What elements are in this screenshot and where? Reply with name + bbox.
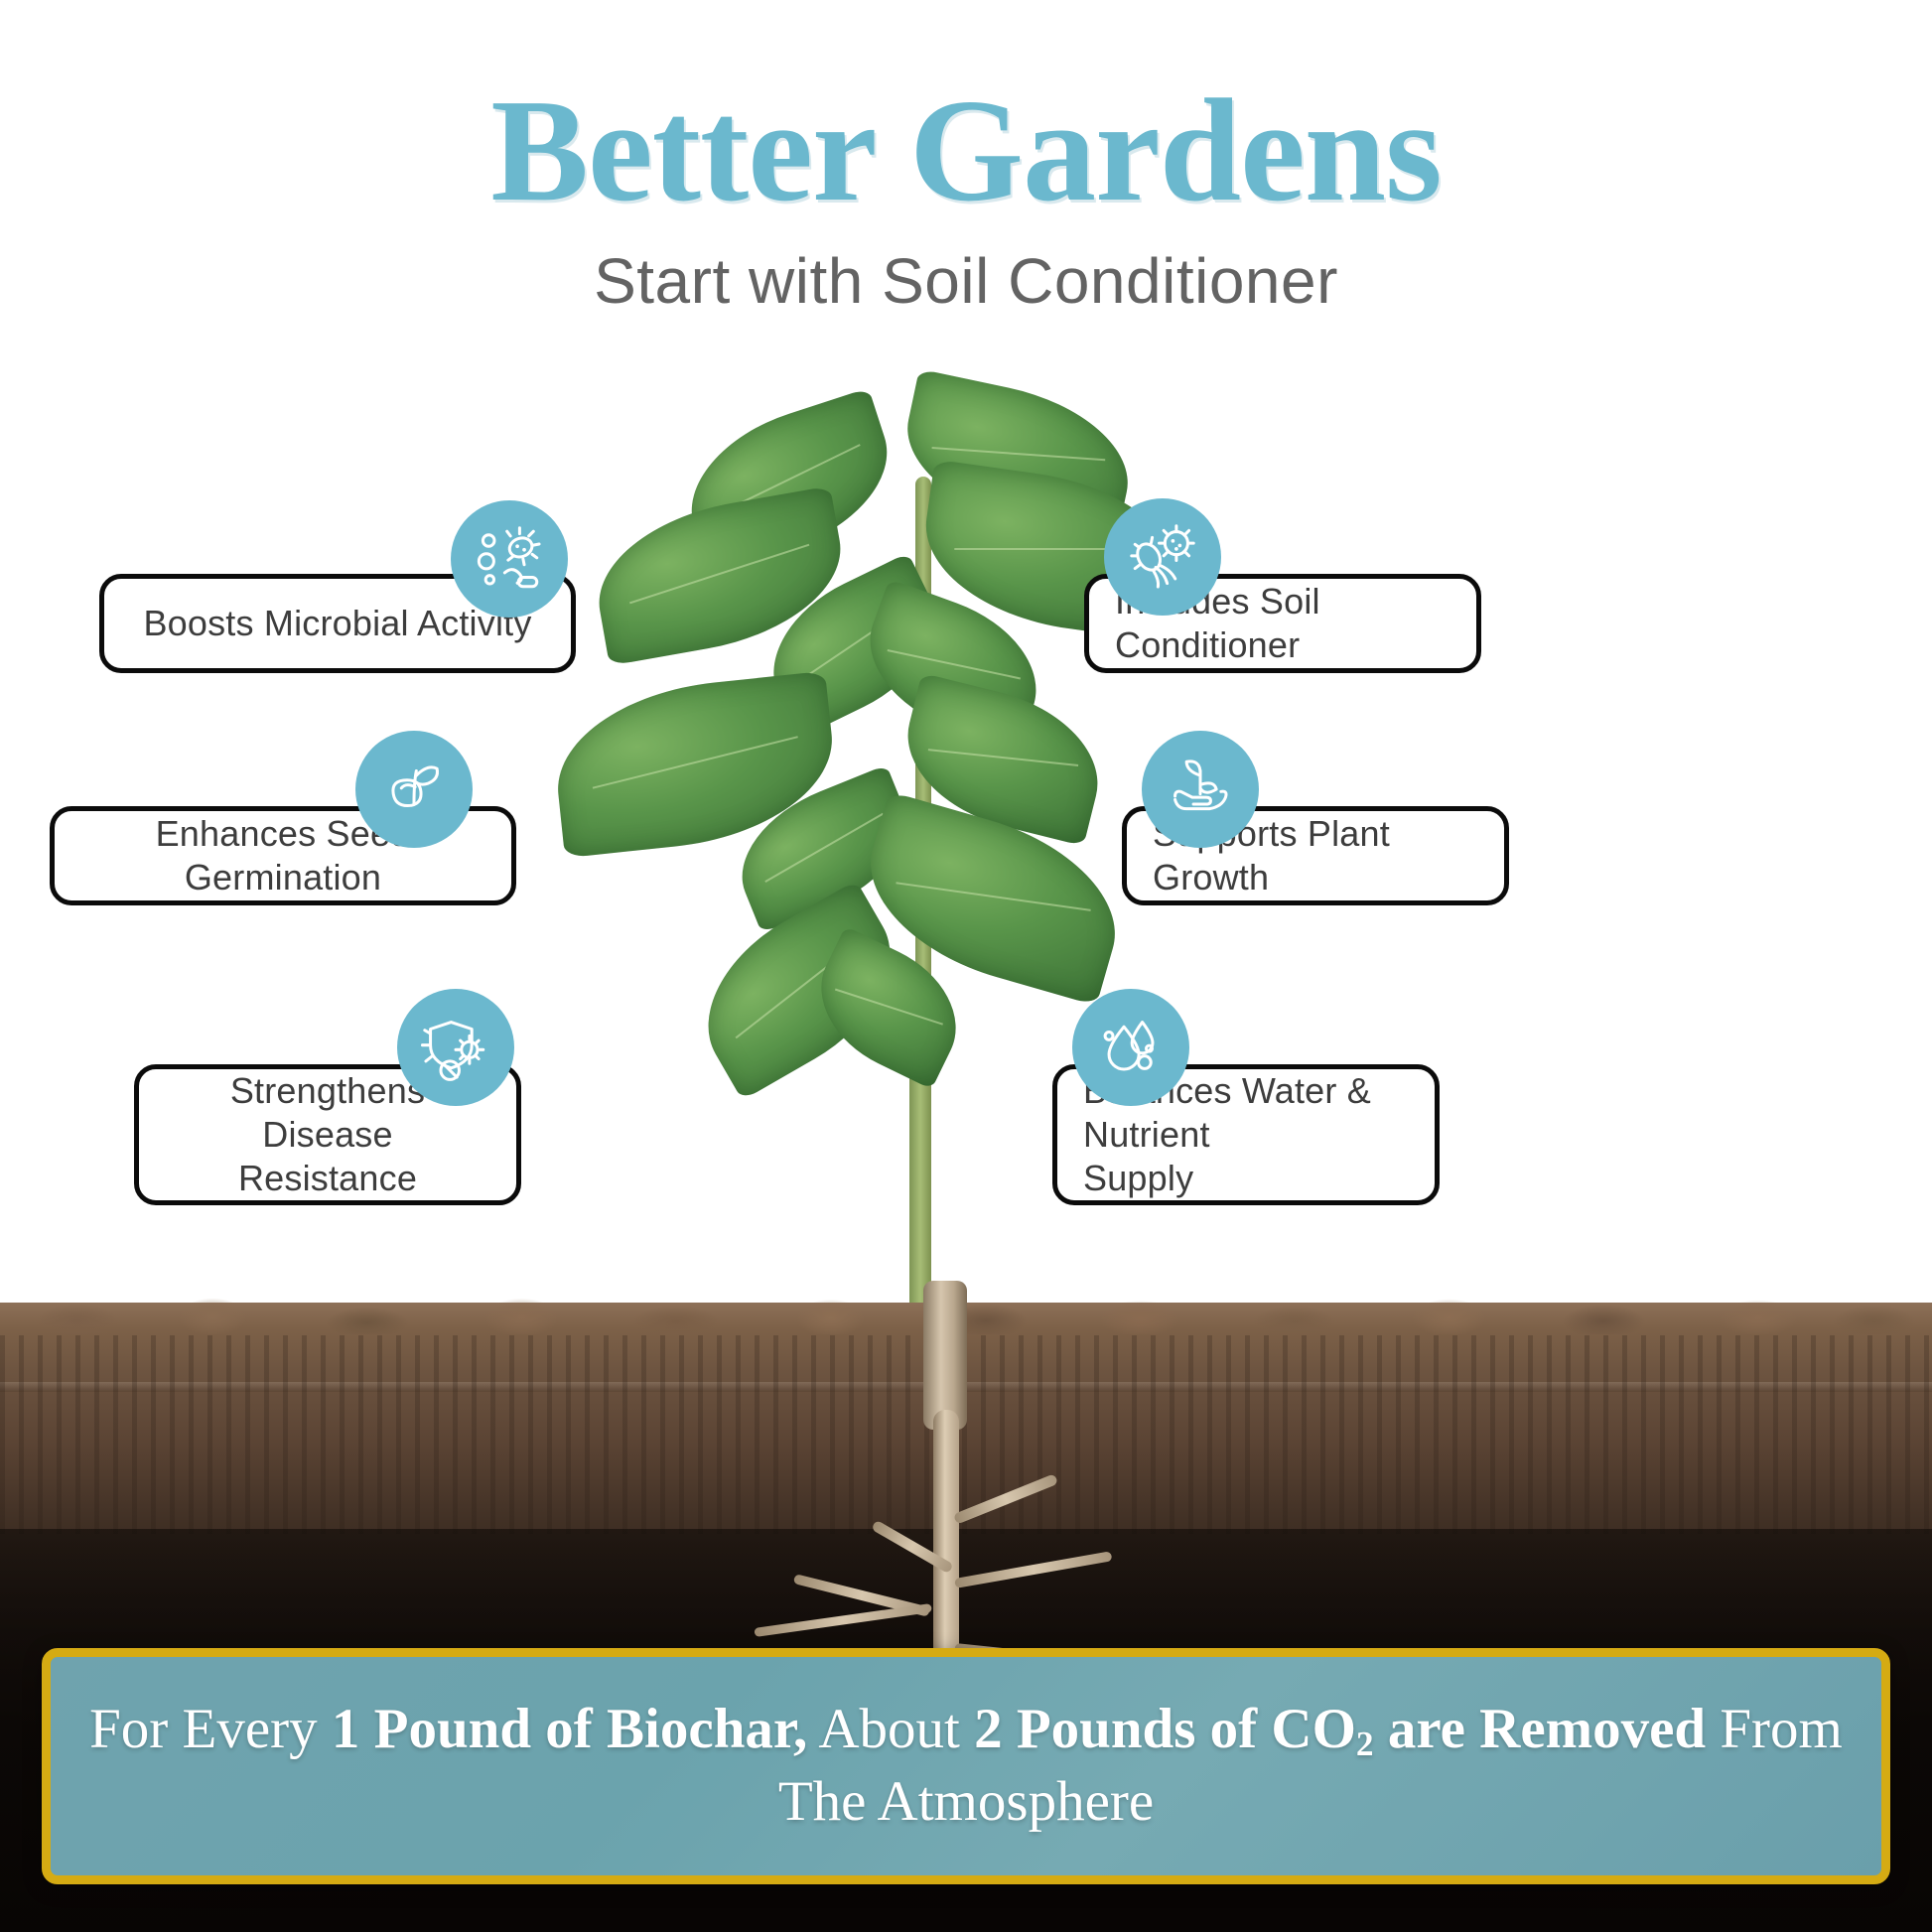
banner-bold2a: 2 Pounds of CO [974,1698,1356,1760]
feature-strengthens-disease-resistance[interactable]: Strengthens Disease Resistance [134,1064,521,1205]
shield-disease-icon [397,989,514,1106]
feature-boosts-microbial-activity[interactable]: Boosts Microbial Activity [99,574,576,673]
infographic-canvas: Better Gardens Start with Soil Condition… [0,0,1932,1932]
water-droplets-icon [1072,989,1189,1106]
plant-trunk [923,1281,967,1430]
feature-enhances-seed-germination[interactable]: Enhances Seed Germination [50,806,516,905]
header: Better Gardens Start with Soil Condition… [0,77,1932,318]
banner-text-part2: About [807,1698,974,1760]
banner-bold2b: are Removed [1374,1698,1707,1760]
banner-bold1: 1 Pound of Biochar, [332,1698,807,1760]
hand-seedling-icon [1142,731,1259,848]
feature-supports-plant-growth[interactable]: Supports Plant Growth [1122,806,1509,905]
bottom-banner: For Every 1 Pound of Biochar, About 2 Po… [42,1648,1890,1884]
banner-text-part1: For Every [89,1698,332,1760]
page-subtitle: Start with Soil Conditioner [0,244,1932,318]
feature-balances-water-nutrient-supply[interactable]: Balances Water & Nutrient Supply [1052,1064,1440,1205]
banner-text: For Every 1 Pound of Biochar, About 2 Po… [51,1694,1881,1839]
feature-includes-soil-conditioner[interactable]: Includes Soil Conditioner [1084,574,1481,673]
page-title: Better Gardens [0,77,1932,224]
microbes-icon [451,500,568,618]
banner-co2-subscript: 2 [1356,1725,1374,1763]
bacteria-virus-icon [1104,498,1221,616]
sprouting-seed-icon [355,731,473,848]
